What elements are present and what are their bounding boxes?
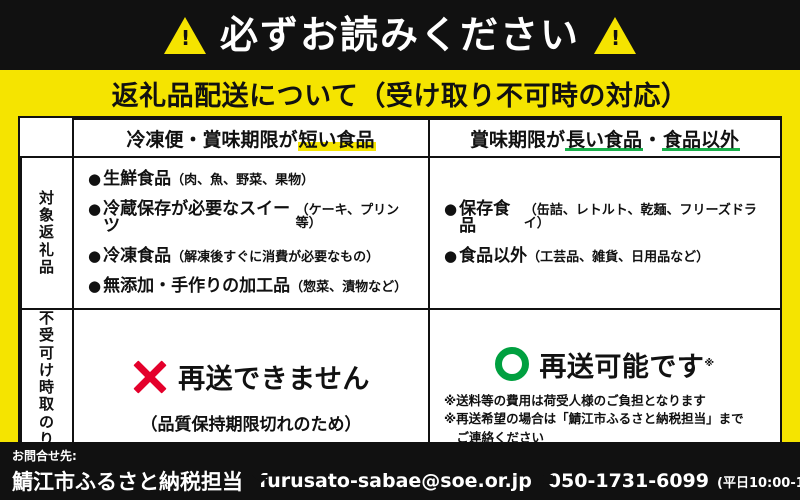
row-label-char: 返: [22, 224, 72, 241]
bullet-dot-icon: ●: [88, 249, 101, 264]
bullet-dot-icon: ●: [88, 172, 101, 187]
response-text-long: 再送可能です※: [539, 345, 714, 384]
row-label-char: 時: [22, 379, 72, 396]
warning-triangle-icon-right: [594, 17, 636, 54]
main-table: 冷凍便・賞味期限が短い食品 賞味期限が長い食品・食品以外 対 象 返 礼 品: [20, 118, 782, 485]
row-label-char: 受: [22, 327, 72, 344]
row-label-char: 取: [22, 396, 72, 413]
response-headline-short: 再送できません: [74, 357, 428, 396]
list-item: ● 保存食品 （缶詰、レトルト、乾麺、フリーズドライ）: [444, 201, 770, 235]
list-item-main: 冷蔵保存が必要なスイーツ: [103, 201, 296, 235]
header-cell-short-life: 冷凍便・賞味期限が短い食品: [73, 119, 429, 157]
response-subtext-short: （品質保持期限切れのため）: [74, 410, 428, 435]
list-item-sub: （工芸品、雑貨、日用品など）: [527, 251, 709, 264]
header-a-prefix: 冷凍便・賞味期限が: [126, 129, 297, 151]
row-label-char: け: [22, 362, 72, 379]
contact-hours: (平日10:00-17:00対応): [717, 472, 800, 491]
row-label-char: 象: [22, 207, 72, 224]
header-b-middle: ・: [643, 129, 662, 151]
list-item-sub: （肉、魚、野菜、果物）: [171, 174, 314, 187]
response-text-long-label: 再送可能です: [539, 352, 704, 383]
cell-long-life-items: ● 保存食品 （缶詰、レトルト、乾麺、フリーズドライ） ● 食品以外 （工芸品、…: [429, 157, 781, 309]
bullet-dot-icon: ●: [444, 249, 457, 264]
footer-contact-bar: お問合せ先: 鯖江市ふるさと納税担当 furusato-sabae@soe.or…: [0, 442, 800, 500]
row-label-char: の: [22, 414, 72, 431]
contact-phone[interactable]: 050-1731-6099: [548, 470, 709, 492]
top-banner: 必ずお読みください: [0, 0, 800, 70]
bullet-dot-icon: ●: [444, 202, 457, 217]
response-headline-long: 再送可能です※: [430, 345, 780, 384]
response-asterisk: ※: [704, 358, 714, 369]
header-b-highlight-2: 食品以外: [662, 129, 740, 151]
row-label-char: 礼: [22, 242, 72, 259]
circle-mark-icon: [495, 347, 529, 381]
bullet-list-long-life: ● 保存食品 （缶詰、レトルト、乾麺、フリーズドライ） ● 食品以外 （工芸品、…: [430, 188, 780, 278]
row-label-char: 対: [22, 190, 72, 207]
row-label-target-items: 対 象 返 礼 品: [21, 157, 73, 309]
list-item: ● 食品以外 （工芸品、雑貨、日用品など）: [444, 248, 770, 265]
list-item-main: 保存食品: [459, 201, 524, 235]
list-item-sub: （惣菜、漬物など）: [290, 281, 407, 294]
page-subtitle: 返礼品配送について（受け取り不可時の対応）: [0, 70, 800, 116]
table-row-target-items: 対 象 返 礼 品 ● 生鮮食品 （肉、魚、野菜、果物）: [21, 157, 781, 309]
bullet-dot-icon: ●: [88, 202, 101, 217]
x-mark-icon: [132, 359, 168, 395]
list-item-sub: （解凍後すぐに消費が必要なもの）: [171, 251, 379, 264]
contact-org: 鯖江市ふるさと納税担当: [12, 466, 243, 496]
row-label-char: 不: [22, 310, 72, 327]
row-label-char: 品: [22, 259, 72, 276]
contact-line: 鯖江市ふるさと納税担当 furusato-sabae@soe.or.jp 050…: [12, 466, 788, 496]
table-header-row: 冷凍便・賞味期限が短い食品 賞味期限が長い食品・食品以外: [21, 119, 781, 157]
response-text-short: 再送できません: [178, 357, 370, 396]
list-item-main: 無添加・手作りの加工品: [103, 278, 290, 295]
list-item-main: 冷凍食品: [103, 248, 171, 265]
list-item: ● 無添加・手作りの加工品 （惣菜、漬物など）: [88, 278, 418, 295]
note-line: ※送料等の費用は荷受人様のご負担となります: [444, 392, 780, 411]
header-b-prefix: 賞味期限が: [470, 129, 565, 151]
bullet-dot-icon: ●: [88, 279, 101, 294]
main-table-wrapper: 冷凍便・賞味期限が短い食品 賞味期限が長い食品・食品以外 対 象 返 礼 品: [18, 116, 782, 487]
header-a-highlight: 短い食品: [298, 129, 376, 151]
list-item: ● 生鮮食品 （肉、魚、野菜、果物）: [88, 171, 418, 188]
response-notes-long: ※送料等の費用は荷受人様のご負担となります ※再送希望の場合は「鯖江市ふるさと納…: [430, 392, 780, 448]
list-item-main: 食品以外: [459, 248, 527, 265]
contact-label: お問合せ先:: [12, 447, 788, 464]
contact-email[interactable]: furusato-sabae@soe.or.jp: [259, 470, 532, 492]
cell-short-life-items: ● 生鮮食品 （肉、魚、野菜、果物） ● 冷蔵保存が必要なスイーツ （ケーキ、プ…: [73, 157, 429, 309]
header-corner-cell: [21, 119, 73, 157]
poster-root: 必ずお読みください 返礼品配送について（受け取り不可時の対応） 冷凍便・賞味期限…: [0, 0, 800, 500]
list-item: ● 冷蔵保存が必要なスイーツ （ケーキ、プリン等）: [88, 201, 418, 235]
list-item-main: 生鮮食品: [103, 171, 171, 188]
warning-triangle-icon-left: [164, 17, 206, 54]
note-line: ※再送希望の場合は「鯖江市ふるさと納税担当」まで: [444, 410, 780, 429]
list-item: ● 冷凍食品 （解凍後すぐに消費が必要なもの）: [88, 248, 418, 265]
list-item-sub: （ケーキ、プリン等）: [296, 204, 418, 230]
header-b-highlight-1: 長い食品: [565, 129, 643, 151]
row-label-char: 可: [22, 345, 72, 362]
banner-title: 必ずお読みください: [220, 16, 580, 54]
bullet-list-short-life: ● 生鮮食品 （肉、魚、野菜、果物） ● 冷蔵保存が必要なスイーツ （ケーキ、プ…: [74, 158, 428, 308]
list-item-sub: （缶詰、レトルト、乾麺、フリーズドライ）: [524, 204, 770, 230]
header-cell-long-life: 賞味期限が長い食品・食品以外: [429, 119, 781, 157]
